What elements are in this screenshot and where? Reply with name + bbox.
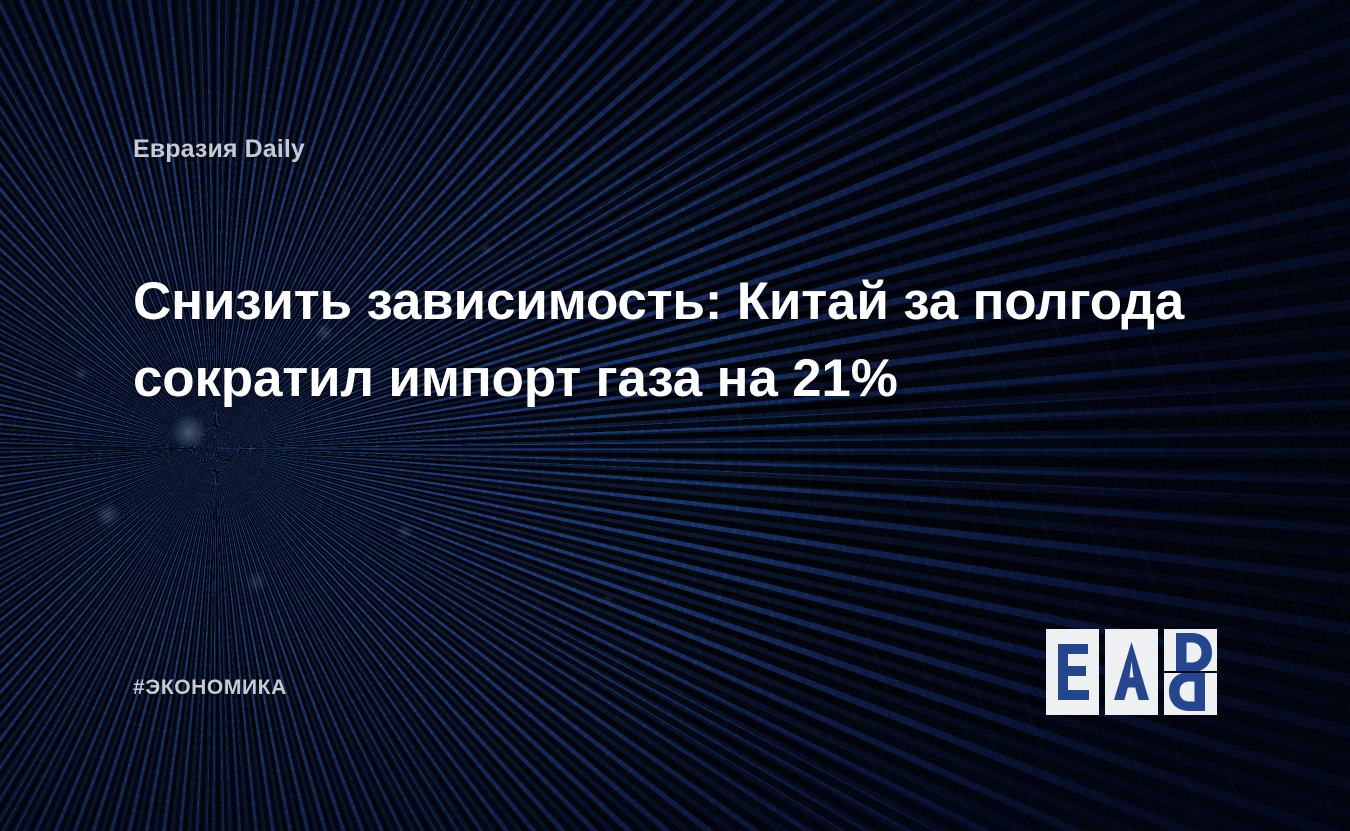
card-content: Евразия Daily Снизить зависимость: Китай… <box>0 0 1350 831</box>
logo-tile-e-icon <box>1046 629 1099 715</box>
logo-half-d-bottom-icon <box>1164 673 1217 715</box>
eadaily-logo[interactable] <box>1046 629 1217 715</box>
logo-tile-d-stacked-icon <box>1164 629 1217 715</box>
category-hashtag[interactable]: #ЭКОНОМИКА <box>133 676 287 700</box>
headline-title: Снизить зависимость: Китай за полгода со… <box>133 264 1253 418</box>
social-share-card: Евразия Daily Снизить зависимость: Китай… <box>0 0 1350 831</box>
logo-half-d-top-icon <box>1164 629 1217 671</box>
brand-name: Евразия Daily <box>133 135 305 164</box>
logo-tile-a-icon <box>1105 629 1158 715</box>
